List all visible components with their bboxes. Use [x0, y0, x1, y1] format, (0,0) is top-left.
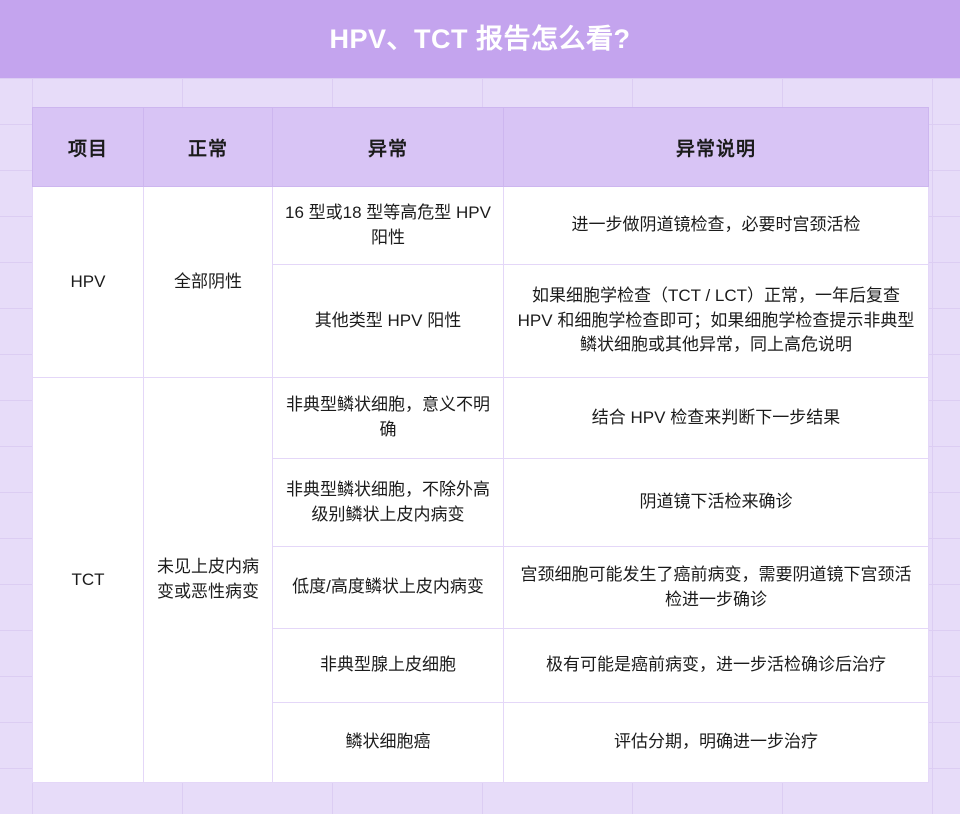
cell-abnormal: 16 型或18 型等高危型 HPV 阳性 [273, 187, 504, 265]
table-row: HPV 全部阴性 16 型或18 型等高危型 HPV 阳性 进一步做阴道镜检查，… [33, 187, 929, 265]
table-row: TCT 未见上皮内病变或恶性病变 非典型鳞状细胞，意义不明确 结合 HPV 检查… [33, 378, 929, 459]
column-header-abnormal: 异常 [273, 108, 504, 187]
column-header-item: 项目 [33, 108, 144, 187]
page-banner: HPV、TCT 报告怎么看? [0, 0, 960, 78]
table-header-row: 项目 正常 异常 异常说明 [33, 108, 929, 187]
cell-explanation: 结合 HPV 检查来判断下一步结果 [504, 378, 929, 459]
cell-abnormal: 低度/高度鳞状上皮内病变 [273, 547, 504, 629]
cell-abnormal: 其他类型 HPV 阳性 [273, 265, 504, 378]
hpv-tct-report-table: 项目 正常 异常 异常说明 HPV 全部阴性 16 型或18 型等高危型 HPV… [32, 107, 929, 783]
cell-explanation: 阴道镜下活检来确诊 [504, 459, 929, 547]
cell-normal-tct: 未见上皮内病变或恶性病变 [144, 378, 273, 783]
column-header-normal: 正常 [144, 108, 273, 187]
table-body: HPV 全部阴性 16 型或18 型等高危型 HPV 阳性 进一步做阴道镜检查，… [33, 187, 929, 783]
cell-explanation: 宫颈细胞可能发生了癌前病变，需要阴道镜下宫颈活检进一步确诊 [504, 547, 929, 629]
cell-normal-hpv: 全部阴性 [144, 187, 273, 378]
cell-abnormal: 非典型腺上皮细胞 [273, 629, 504, 703]
cell-abnormal: 非典型鳞状细胞，意义不明确 [273, 378, 504, 459]
column-header-explanation: 异常说明 [504, 108, 929, 187]
cell-item-hpv: HPV [33, 187, 144, 378]
cell-abnormal: 非典型鳞状细胞，不除外高级别鳞状上皮内病变 [273, 459, 504, 547]
page-title: HPV、TCT 报告怎么看? [330, 26, 631, 53]
cell-explanation: 极有可能是癌前病变，进一步活检确诊后治疗 [504, 629, 929, 703]
cell-item-tct: TCT [33, 378, 144, 783]
table-header: 项目 正常 异常 异常说明 [33, 108, 929, 187]
cell-explanation: 进一步做阴道镜检查，必要时宫颈活检 [504, 187, 929, 265]
cell-explanation: 如果细胞学检查（TCT / LCT）正常，一年后复查 HPV 和细胞学检查即可；… [504, 265, 929, 378]
cell-explanation: 评估分期，明确进一步治疗 [504, 703, 929, 783]
cell-abnormal: 鳞状细胞癌 [273, 703, 504, 783]
